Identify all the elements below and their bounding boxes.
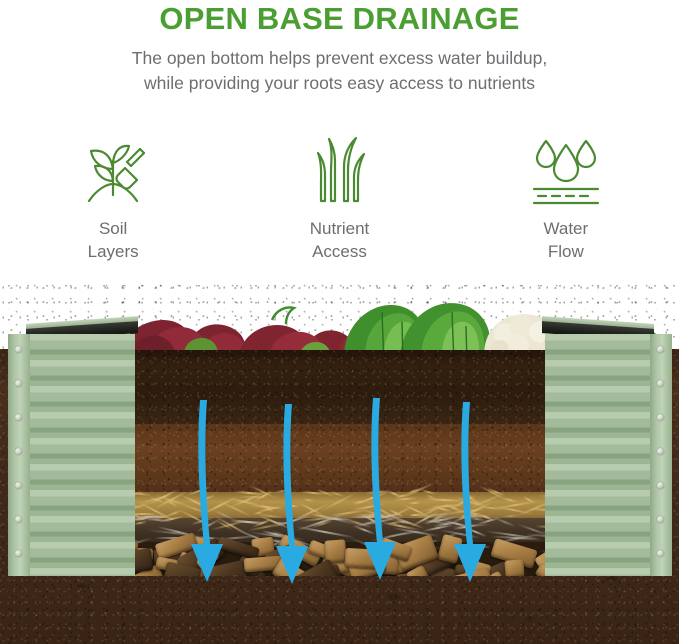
page-title: OPEN BASE DRAINAGE	[0, 2, 679, 36]
screw	[15, 482, 22, 489]
screw	[15, 516, 22, 523]
feature-soil-layers-label: Soil Layers	[88, 217, 139, 263]
screw	[657, 346, 664, 353]
bed-panel-left	[8, 334, 135, 576]
screw	[15, 380, 22, 387]
screw	[15, 448, 22, 455]
subtitle-line-2: while providing your roots easy access t…	[0, 71, 679, 96]
screw	[657, 516, 664, 523]
bed-panel-right-corrugation	[545, 334, 654, 576]
bed-corner-post-right	[650, 334, 672, 576]
feature-soil-layers: Soil Layers	[0, 133, 226, 278]
feature-nutrient-access-label: Nutrient Access	[310, 217, 370, 263]
feature-label-line-2: Access	[310, 240, 370, 263]
drainage-arrow-2	[276, 404, 308, 584]
screw	[15, 414, 22, 421]
screw	[657, 380, 664, 387]
header: OPEN BASE DRAINAGE The open bottom helps…	[0, 0, 679, 96]
drainage-arrow-1	[191, 400, 223, 582]
water-drops-permeable-layer-icon	[526, 133, 606, 211]
drainage-arrow-4	[454, 402, 486, 582]
screw	[657, 482, 664, 489]
grass-blades-icon	[304, 133, 374, 211]
subtitle-line-1: The open bottom helps prevent excess wat…	[0, 46, 679, 71]
screw	[657, 448, 664, 455]
feature-label-line-2: Layers	[88, 240, 139, 263]
raised-garden-bed-cutaway	[0, 282, 679, 644]
feature-nutrient-access: Nutrient Access	[226, 133, 452, 278]
feature-label-line-2: Flow	[543, 240, 588, 263]
screw	[657, 414, 664, 421]
feature-label-line-1: Water	[543, 217, 588, 240]
soil-sprout-shovel-icon	[75, 133, 151, 211]
screw	[15, 346, 22, 353]
feature-water-flow: Water Flow	[453, 133, 679, 278]
bed-corner-post-left	[8, 334, 30, 576]
screw	[657, 550, 664, 557]
page-subtitle: The open bottom helps prevent excess wat…	[0, 46, 679, 96]
drainage-arrow-3	[364, 398, 396, 580]
bed-panel-left-corrugation	[26, 334, 135, 576]
feature-water-flow-label: Water Flow	[543, 217, 588, 263]
screw	[15, 550, 22, 557]
feature-label-line-1: Soil	[88, 217, 139, 240]
feature-label-line-1: Nutrient	[310, 217, 370, 240]
bed-panel-right	[545, 334, 672, 576]
feature-list: Soil Layers Nutrient Access	[0, 133, 679, 278]
